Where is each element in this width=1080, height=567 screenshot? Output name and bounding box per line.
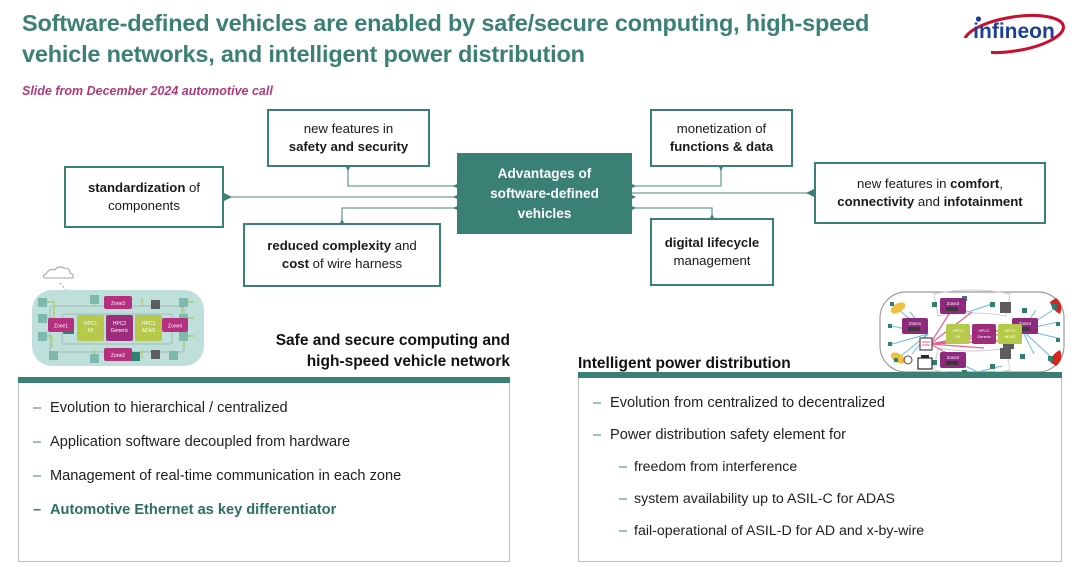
node-standardization-line2: components [88,197,200,215]
left-section-heading: Safe and secure computing and high-speed… [180,330,510,372]
left-bullet-list: – Evolution to hierarchical / centralize… [19,383,509,520]
hpc1-sub: IVI [87,328,93,334]
bullet-dash-icon: – [33,501,50,520]
page-title: Software-defined vehicles are enabled by… [22,8,922,70]
bullet-text: freedom from interference [634,458,797,477]
list-item-highlighted[interactable]: – Automotive Ethernet as key differentia… [33,501,495,520]
left-bullet-panel: – Evolution to hierarchical / centralize… [18,378,510,562]
node-monetization-line1: monetization of [670,120,773,138]
right-heading-line1: Intelligent power distribution [578,353,978,374]
hpc2-sub: Generic [111,328,129,334]
hpc3-sub: ADAS [142,328,156,334]
right-hpc3-sub: ADAS [1005,334,1016,339]
node-standardization[interactable]: standardization of components [64,166,224,228]
bullet-text: Management of real-time communication in… [50,467,401,486]
bullet-text: fail-operational of ASIL-D for AD and x-… [634,522,924,541]
node-monetization[interactable]: monetization of functions & data [650,109,793,167]
slide-source-subtitle: Slide from December 2024 automotive call [22,84,273,98]
node-comfort-bold3: infotainment [944,194,1023,209]
left-heading-line2: high-speed vehicle network [180,351,510,372]
cloud-icon [43,267,73,278]
wire-reduced [342,208,457,223]
right-bullet-panel: – Evolution from centralized to decentra… [578,373,1062,562]
node-advantages-center[interactable]: Advantages of software-defined vehicles [457,153,632,234]
wire-monetization [632,167,721,186]
node-comfort-tail1: , [999,176,1003,191]
node-standardization-bold: standardization [88,180,185,195]
vehicle-right-hpc-boxes: HPC1 IVI HPC2 Generic HPC3 ADAS [946,324,1022,344]
logo-dot-icon [976,16,981,21]
right-hpc1-label: HPC1 [953,328,964,333]
right-zone1-label: Zone1 [909,321,922,326]
node-comfort-bold2: connectivity [837,194,914,209]
bullet-dash-icon: – [33,433,50,452]
list-item-sub[interactable]: – fail-operational of ASIL-D for AD and … [619,522,1047,541]
infineon-logo: infineon [961,8,1067,56]
node-reduced-complexity[interactable]: reduced complexity and cost of wire harn… [243,223,441,287]
bullet-text: Evolution from centralized to decentrali… [610,394,885,413]
vehicle-hpc-boxes: HPC1 IVI HPC2 Generic HPC3 ADAS [77,315,162,341]
bullet-text: Application software decoupled from hard… [50,433,350,452]
zone3-label: Zone3 [111,301,125,307]
node-comfort-connectivity[interactable]: new features in comfort, connectivity an… [814,162,1046,224]
node-standardization-tail: of [185,180,200,195]
node-reduced-bold2: cost [282,256,309,271]
hpc3-label: HPC3 [142,321,156,327]
right-bullet-list: – Evolution from centralized to decentra… [579,378,1061,541]
list-item[interactable]: – Evolution from centralized to decentra… [593,394,1047,413]
node-safety-line2: safety and security [289,139,408,154]
wire-safety [348,167,457,186]
bullet-dash-icon: – [619,458,634,477]
bullet-dash-icon: – [33,399,50,418]
list-item-sub[interactable]: – system availability up to ASIL-C for A… [619,490,1047,509]
node-reduced-tail2: of wire harness [309,256,402,271]
bullet-dash-icon: – [619,490,634,509]
list-item[interactable]: – Management of real-time communication … [33,467,495,486]
right-hpc3-label: HPC3 [1005,328,1016,333]
right-section-heading: Intelligent power distribution [578,353,978,374]
bullet-text: Power distribution safety element for [610,426,846,445]
bullet-dash-icon: – [593,426,610,445]
center-line2: software-defined [490,184,599,204]
node-digital-line1: digital lifecycle [665,235,760,250]
wire-digital [632,208,712,218]
zone1-label: Zone1 [54,324,68,330]
list-item-sub[interactable]: – freedom from interference [619,458,1047,477]
center-line3: vehicles [490,204,599,224]
logo-wordmark: infineon [973,20,1055,43]
node-digital-lifecycle[interactable]: digital lifecycle management [650,218,774,286]
node-comfort-tail2: and [914,194,943,209]
bullet-text: Evolution to hierarchical / centralized [50,399,288,418]
node-monetization-line2: functions & data [670,139,773,154]
hpc1-label: HPC1 [84,321,98,327]
node-reduced-tail1: and [391,238,417,253]
center-line1: Advantages of [490,164,599,184]
bullet-text: Automotive Ethernet as key differentiato… [50,501,336,520]
right-hpc1-sub: IVI [956,334,961,339]
list-item[interactable]: – Power distribution safety element for [593,426,1047,445]
infineon-logo-graphic: infineon [961,8,1067,56]
node-comfort-plain1: new features in [857,176,950,191]
node-reduced-bold1: reduced complexity [267,238,391,253]
zone2-label: Zone2 [111,353,125,359]
right-zone3-label: Zone3 [947,301,960,306]
node-safety-security[interactable]: new features in safety and security [267,109,430,167]
list-item[interactable]: – Evolution to hierarchical / centralize… [33,399,495,418]
right-hpc2-sub: Generic [977,334,991,339]
bullet-dash-icon: – [619,522,634,541]
zone4-label: Zone4 [168,324,182,330]
bullet-dash-icon: – [593,394,610,413]
node-comfort-bold1: comfort [950,176,999,191]
left-heading-line1: Safe and secure computing and [180,330,510,351]
bullet-text: system availability up to ASIL-C for ADA… [634,490,895,509]
hpc2-label: HPC2 [113,321,127,327]
node-digital-line2: management [665,252,760,270]
bullet-dash-icon: – [33,467,50,486]
right-hpc2-label: HPC2 [979,328,990,333]
node-safety-line1: new features in [289,120,408,138]
list-item[interactable]: – Application software decoupled from ha… [33,433,495,452]
